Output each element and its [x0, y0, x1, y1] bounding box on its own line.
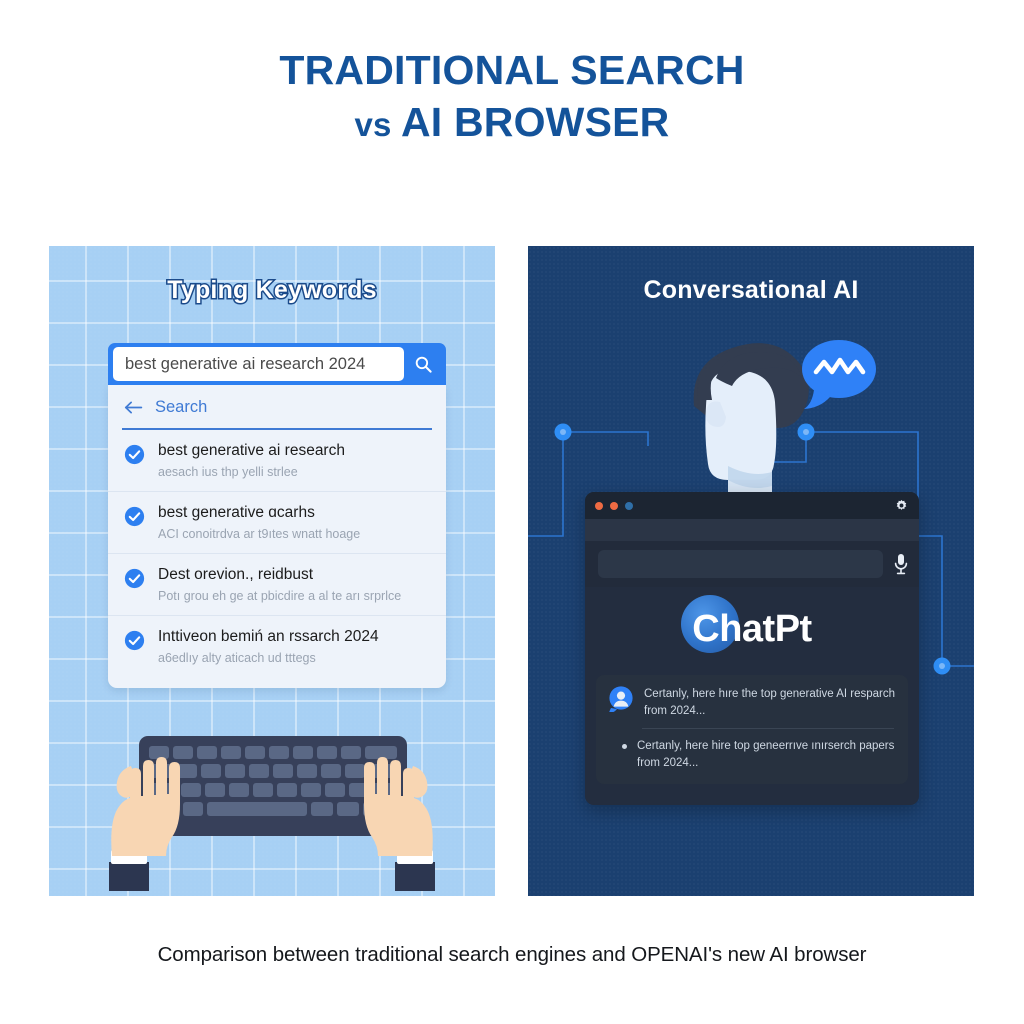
chat-transcript: Certanly, here hıre the top generative A…: [596, 675, 908, 784]
suggestion-title: best generative ai research: [158, 442, 345, 461]
back-arrow-icon[interactable]: [124, 400, 143, 415]
brand-lockup: ChatPt: [585, 587, 919, 671]
suggestion-subtitle: ACI conoitrdva ar t9ıtes wnatt hoage: [158, 526, 360, 542]
search-submit-button[interactable]: [404, 343, 442, 385]
check-circle-icon: [124, 506, 145, 527]
left-panel-heading: Typing Keywords: [49, 276, 495, 305]
right-hand-illustration: [364, 757, 435, 891]
browser-titlebar: [585, 492, 919, 519]
list-item-texts: Dest orevion., reidbust Potı grou eh ge …: [158, 566, 401, 604]
ai-browser-window: ChatPt Certanly, here hıre the top gener…: [585, 492, 919, 805]
list-item[interactable]: best generative ai research aesach ius t…: [108, 430, 446, 492]
keyboard-hands-svg: [49, 726, 495, 896]
window-minimize-dot[interactable]: [610, 502, 618, 510]
ai-browser-panel: Conversational AI: [528, 246, 974, 896]
magnifier-icon: [414, 355, 433, 374]
search-widget: best generative ai research 2024 Search: [108, 343, 446, 688]
window-maximize-dot[interactable]: [625, 502, 633, 510]
suggestion-title: Dest orevion., reidbust: [158, 566, 401, 585]
window-controls[interactable]: [595, 502, 633, 510]
list-item[interactable]: best generative ɑcarhs ACI conoitrdva ar…: [108, 492, 446, 554]
chat-divider: [642, 728, 894, 729]
infographic-canvas: TRADITIONAL SEARCH vs AI BROWSER Typing …: [0, 0, 1024, 1024]
bullet-point-icon: [622, 744, 627, 749]
browser-tabstrip: [585, 519, 919, 541]
user-avatar-icon: [608, 686, 634, 712]
caption: Comparison between traditional search en…: [0, 943, 1024, 967]
list-item-texts: best generative ɑcarhs ACI conoitrdva ar…: [158, 504, 360, 542]
list-item-texts: best generative ai research aesach ius t…: [158, 442, 345, 480]
suggestion-subtitle: a6edlıy alty aticach ud tttegs: [158, 650, 379, 666]
browser-omnibox-row: [585, 541, 919, 587]
traditional-search-panel: Typing Keywords best generative ai resea…: [49, 246, 495, 896]
search-input-value: best generative ai research 2024: [125, 355, 365, 374]
check-circle-icon: [124, 630, 145, 651]
title-line-2: vs AI BROWSER: [0, 96, 1024, 148]
title-ai-browser: AI BROWSER: [401, 99, 670, 145]
page-title: TRADITIONAL SEARCH vs AI BROWSER: [0, 44, 1024, 149]
check-circle-icon: [124, 444, 145, 465]
omnibox-input[interactable]: [598, 550, 883, 578]
chat-bullet-text: Certanly, here hire top geneerrıve ınırs…: [637, 738, 896, 771]
list-item[interactable]: Dest orevion., reidbust Potı grou eh ge …: [108, 554, 446, 616]
list-item-texts: Inttiveon bemiń an rssarch 2024 a6edlıy …: [158, 628, 379, 666]
list-item[interactable]: Inttiveon bemiń an rssarch 2024 a6edlıy …: [108, 616, 446, 677]
typing-illustration: [49, 726, 495, 896]
microphone-icon[interactable]: [893, 552, 909, 576]
speech-bubble-icon: [800, 338, 878, 410]
suggestion-title: best generative ɑcarhs: [158, 504, 360, 523]
title-vs: vs: [355, 106, 401, 143]
search-input[interactable]: best generative ai research 2024: [113, 347, 404, 381]
brand-name: ChatPt: [692, 608, 811, 651]
search-suggestions-panel: Search best generative ai research aesac…: [108, 385, 446, 688]
left-hand-illustration: [109, 757, 180, 891]
title-line-1: TRADITIONAL SEARCH: [0, 44, 1024, 96]
chat-message: Certanly, here hıre the top generative A…: [608, 686, 896, 719]
chat-bullet-item: Certanly, here hire top geneerrıve ınırs…: [608, 738, 896, 771]
suggestions-header[interactable]: Search: [108, 385, 446, 428]
suggestion-subtitle: aesach ius thp yelli strlee: [158, 464, 345, 480]
suggestion-subtitle: Potı grou eh ge at pbicdire a al te arı …: [158, 588, 401, 604]
chat-message-text: Certanly, here hıre the top generative A…: [644, 686, 896, 719]
suggestion-title: Inttiveon bemiń an rssarch 2024: [158, 628, 379, 647]
search-bar[interactable]: best generative ai research 2024: [108, 343, 446, 385]
window-close-dot[interactable]: [595, 502, 603, 510]
check-circle-icon: [124, 568, 145, 589]
gear-icon[interactable]: [895, 499, 908, 512]
suggestions-header-label: Search: [155, 398, 207, 417]
